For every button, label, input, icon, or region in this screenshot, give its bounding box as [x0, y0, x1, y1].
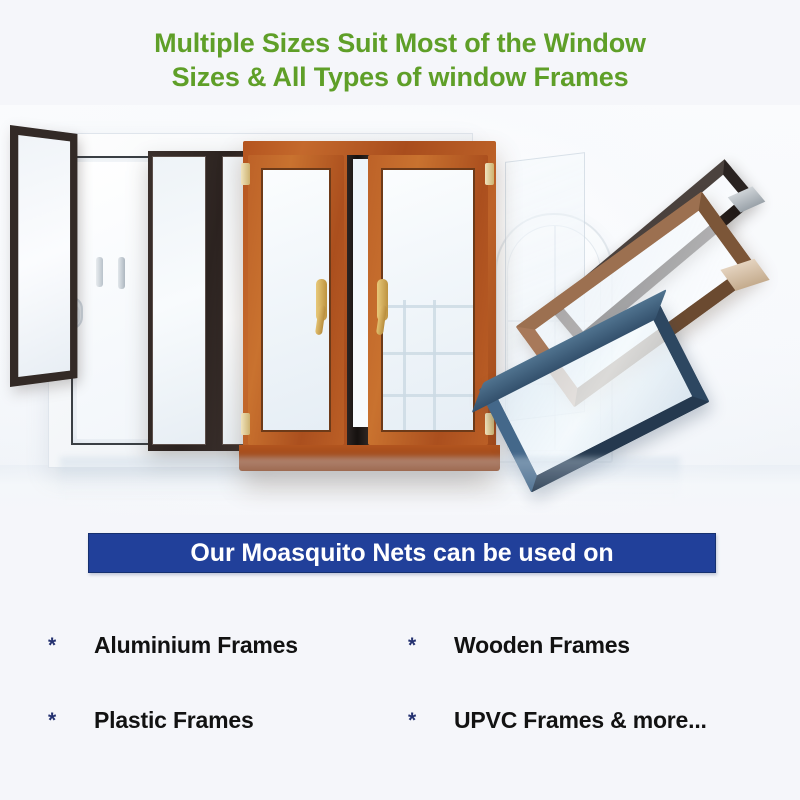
hinge-top-left [241, 163, 250, 185]
usage-banner-label: Our Moasquito Nets can be used on [190, 539, 613, 568]
wooden-window-glass-right [381, 168, 475, 432]
frame-type-label: Aluminium Frames [94, 632, 298, 659]
hinge-top-right [485, 163, 494, 185]
muntin-horizontal [383, 305, 473, 308]
frame-type-list: * Aluminium Frames * Wooden Frames * Pla… [0, 608, 800, 758]
page-title: Multiple Sizes Suit Most of the Window S… [0, 26, 800, 94]
asterisk-icon: * [48, 635, 94, 656]
dark-window-handle [96, 257, 103, 287]
asterisk-icon: * [408, 635, 454, 656]
list-item: * Plastic Frames [0, 683, 400, 758]
usage-banner: Our Moasquito Nets can be used on [88, 533, 716, 573]
asterisk-icon: * [408, 710, 454, 731]
dark-window-open-sash [10, 125, 77, 387]
frame-type-label: UPVC Frames & more... [454, 707, 707, 734]
wooden-window-handle-right [377, 279, 388, 321]
list-item: * Wooden Frames [400, 608, 800, 683]
dark-window-glass-left [152, 156, 206, 445]
asterisk-icon: * [48, 710, 94, 731]
frame-type-label: Wooden Frames [454, 632, 630, 659]
window-wooden-double [243, 141, 496, 471]
floor-reflection [60, 457, 680, 503]
page-title-line-1: Multiple Sizes Suit Most of the Window [0, 26, 800, 60]
product-photo [0, 105, 800, 515]
muntin-horizontal [383, 352, 473, 355]
dark-window-handle-secondary [118, 257, 125, 289]
hinge-bottom-left [241, 413, 250, 435]
frame-type-label: Plastic Frames [94, 707, 254, 734]
promo-page: Multiple Sizes Suit Most of the Window S… [0, 0, 800, 800]
muntin-vertical [433, 300, 436, 430]
muntin-vertical [403, 300, 406, 430]
page-title-line-2: Sizes & All Types of window Frames [0, 60, 800, 94]
muntin-horizontal [383, 394, 473, 397]
list-item: * UPVC Frames & more... [400, 683, 800, 758]
wooden-window-sash-left [248, 155, 344, 445]
list-item: * Aluminium Frames [0, 608, 400, 683]
wooden-window-handle-left [316, 279, 327, 321]
